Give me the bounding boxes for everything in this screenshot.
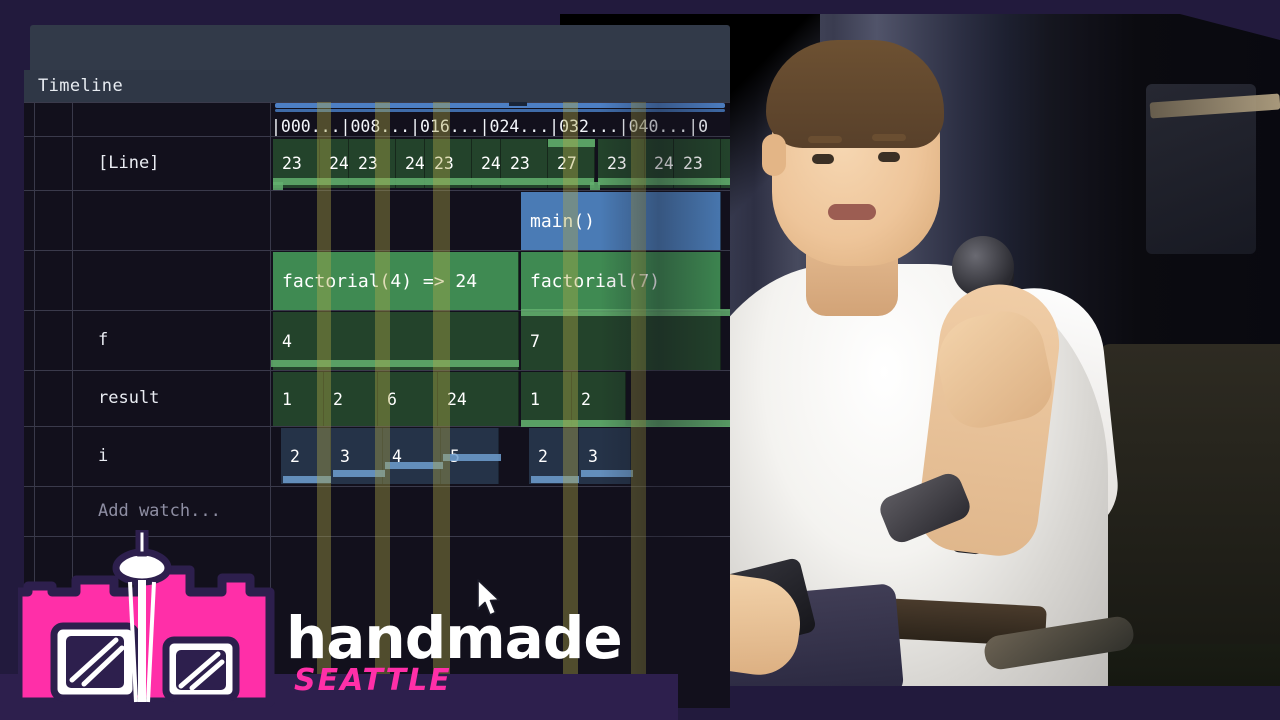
var-result-cell[interactable]: 1 bbox=[521, 372, 572, 426]
line-bar bbox=[598, 178, 730, 185]
var-i-bar bbox=[581, 470, 633, 477]
timeline-ruler: |000...|008...|016...|024...|032...|040.… bbox=[271, 113, 730, 141]
sidebar-item-line[interactable]: [Line] bbox=[98, 136, 288, 190]
add-watch-label: Add watch... bbox=[98, 501, 221, 521]
var-i-bar bbox=[385, 462, 443, 469]
var-result-cell[interactable]: 6 bbox=[378, 372, 438, 426]
var-result-cell[interactable]: 1 bbox=[273, 372, 324, 426]
var-value: 6 bbox=[387, 390, 397, 409]
presenter-ear bbox=[762, 134, 786, 176]
var-value: 1 bbox=[282, 390, 292, 409]
sidebar-item-result[interactable]: result bbox=[98, 370, 288, 426]
var-value: 1 bbox=[530, 390, 540, 409]
scrollbar-thumb[interactable] bbox=[275, 103, 725, 108]
line-value: 24 bbox=[329, 154, 349, 173]
line-value: 23 bbox=[434, 154, 454, 173]
var-i-bar bbox=[283, 476, 331, 483]
var-value: 24 bbox=[447, 390, 467, 409]
line-value: 24 bbox=[481, 154, 501, 173]
editor-panel[interactable] bbox=[30, 25, 730, 70]
scrollbar-thumb-shadow bbox=[275, 109, 725, 112]
line-bar-top bbox=[548, 139, 595, 147]
var-f-bar bbox=[271, 360, 519, 367]
line-value: 23 bbox=[358, 154, 378, 173]
var-value: 7 bbox=[530, 332, 540, 351]
row-label-text: result bbox=[98, 388, 159, 408]
scrollbar-notch bbox=[509, 102, 527, 106]
var-i-bar bbox=[443, 454, 501, 461]
var-result-bar bbox=[521, 420, 730, 427]
var-result-cell[interactable]: 2 bbox=[572, 372, 626, 426]
sidebar-item-i[interactable]: i bbox=[98, 426, 288, 486]
var-value: 2 bbox=[290, 447, 300, 466]
screen: Timeline [Line] f result i Add watch... bbox=[0, 0, 1280, 720]
add-watch-button[interactable]: Add watch... bbox=[98, 486, 288, 536]
var-value: 2 bbox=[538, 447, 548, 466]
callstack-factorial-7[interactable]: factorial(7) bbox=[521, 252, 721, 310]
timeline-header: Timeline bbox=[24, 70, 730, 102]
callstack-label: factorial(4) => 24 bbox=[282, 271, 477, 292]
row-label-text: [Line] bbox=[98, 153, 159, 173]
line-bar-stub bbox=[273, 182, 283, 190]
handmade-seattle-logo: handmade SEATTLE bbox=[18, 530, 638, 720]
var-result-cell[interactable]: 24 bbox=[438, 372, 519, 426]
var-value: 4 bbox=[282, 332, 292, 351]
presenter-hair bbox=[766, 40, 944, 148]
line-bar bbox=[273, 178, 594, 185]
line-value: 27 bbox=[557, 154, 577, 173]
var-i-bar bbox=[531, 476, 579, 483]
line-value: 23 bbox=[683, 154, 703, 173]
var-value: 3 bbox=[340, 447, 350, 466]
row-label-text: i bbox=[98, 446, 108, 466]
var-value: 2 bbox=[333, 390, 343, 409]
sidebar-item-f[interactable]: f bbox=[98, 310, 288, 370]
logo-wordmark: handmade bbox=[286, 604, 622, 672]
line-value: 23 bbox=[607, 154, 627, 173]
presenter-brow-right bbox=[872, 134, 906, 141]
row-label-text: f bbox=[98, 330, 108, 350]
presenter-brow-left bbox=[808, 136, 842, 143]
var-result-cell[interactable]: 2 bbox=[324, 372, 378, 426]
logo-subtitle: SEATTLE bbox=[294, 663, 452, 698]
presenter-eye-right bbox=[878, 152, 900, 162]
var-f-bar bbox=[521, 309, 730, 316]
line-bar-stub bbox=[590, 182, 600, 190]
callstack-main[interactable]: main() bbox=[521, 192, 721, 250]
line-value: 24 bbox=[405, 154, 425, 173]
callstack-label: main() bbox=[530, 211, 595, 232]
line-value: 24 bbox=[654, 154, 674, 173]
var-i-cell[interactable]: 4 bbox=[383, 428, 441, 484]
space-needle-icon bbox=[116, 530, 168, 582]
line-value: 23 bbox=[282, 154, 302, 173]
var-f-cell[interactable]: 7 bbox=[521, 312, 721, 370]
second-chair bbox=[1100, 344, 1280, 644]
var-value: 3 bbox=[588, 447, 598, 466]
var-value: 2 bbox=[581, 390, 591, 409]
presenter-eye-left bbox=[812, 154, 834, 164]
callstack-factorial-4[interactable]: factorial(4) => 24 bbox=[273, 252, 519, 310]
var-i-bar bbox=[333, 470, 385, 477]
callstack-label: factorial(7) bbox=[530, 271, 660, 292]
presenter-mouth bbox=[828, 204, 876, 220]
page-title: Timeline bbox=[24, 76, 123, 96]
line-value: 23 bbox=[510, 154, 530, 173]
horizontal-scrollbar[interactable] bbox=[271, 102, 730, 110]
